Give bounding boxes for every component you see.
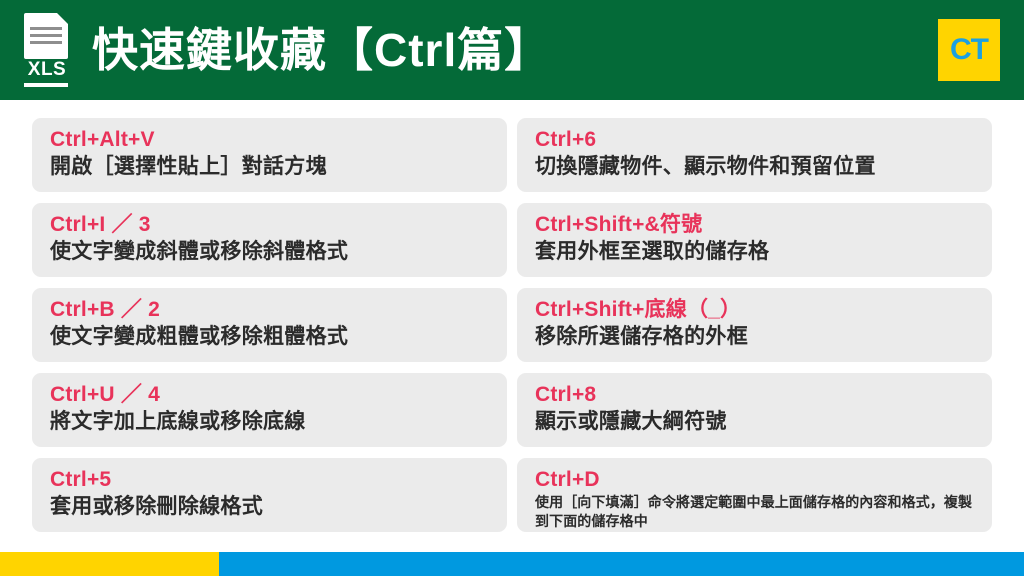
shortcut-grid: Ctrl+Alt+V開啟［選擇性貼上］對話方塊Ctrl+I ／ 3使文字變成斜體… bbox=[0, 100, 1024, 552]
xls-icon-underline bbox=[24, 83, 68, 87]
shortcut-description: 套用或移除刪除線格式 bbox=[50, 493, 491, 520]
page-fold-corner bbox=[57, 13, 68, 24]
shortcut-card: Ctrl+Shift+底線（_）移除所選儲存格的外框 bbox=[517, 288, 992, 362]
shortcut-card: Ctrl+D使用［向下填滿］命令將選定範圍中最上面儲存格的內容和格式，複製到下面… bbox=[517, 458, 992, 532]
shortcut-description: 開啟［選擇性貼上］對話方塊 bbox=[50, 153, 491, 180]
shortcut-key-label: Ctrl+5 bbox=[50, 467, 491, 493]
shortcut-description: 使文字變成斜體或移除斜體格式 bbox=[50, 238, 491, 265]
shortcut-key-label: Ctrl+Alt+V bbox=[50, 127, 491, 153]
shortcut-key-label: Ctrl+B ／ 2 bbox=[50, 297, 491, 323]
shortcut-key-label: Ctrl+I ／ 3 bbox=[50, 212, 491, 238]
shortcut-card: Ctrl+6切換隱藏物件、顯示物件和預留位置 bbox=[517, 118, 992, 192]
shortcut-description: 移除所選儲存格的外框 bbox=[535, 323, 976, 350]
shortcut-column-left: Ctrl+Alt+V開啟［選擇性貼上］對話方塊Ctrl+I ／ 3使文字變成斜體… bbox=[32, 118, 507, 552]
footer-bar bbox=[0, 552, 1024, 576]
shortcut-card: Ctrl+U ／ 4將文字加上底線或移除底線 bbox=[32, 373, 507, 447]
xls-file-icon: XLS bbox=[16, 11, 78, 89]
shortcut-key-label: Ctrl+8 bbox=[535, 382, 976, 408]
page-header: XLS 快速鍵收藏【Ctrl篇】 CT bbox=[0, 0, 1024, 100]
xls-icon-label: XLS bbox=[16, 59, 78, 80]
shortcut-column-right: Ctrl+6切換隱藏物件、顯示物件和預留位置Ctrl+Shift+&符號套用外框… bbox=[517, 118, 992, 552]
shortcut-key-label: Ctrl+Shift+底線（_） bbox=[535, 297, 976, 323]
shortcut-key-label: Ctrl+Shift+&符號 bbox=[535, 212, 976, 238]
shortcut-description: 切換隱藏物件、顯示物件和預留位置 bbox=[535, 153, 976, 180]
shortcut-key-label: Ctrl+D bbox=[535, 467, 976, 493]
shortcut-description: 顯示或隱藏大綱符號 bbox=[535, 408, 976, 435]
shortcut-card: Ctrl+5套用或移除刪除線格式 bbox=[32, 458, 507, 532]
shortcut-card: Ctrl+I ／ 3使文字變成斜體或移除斜體格式 bbox=[32, 203, 507, 277]
brand-logo-text: CT bbox=[950, 35, 988, 65]
shortcut-card: Ctrl+Shift+&符號套用外框至選取的儲存格 bbox=[517, 203, 992, 277]
page-title: 快速鍵收藏【Ctrl篇】 bbox=[92, 25, 938, 75]
shortcut-description: 將文字加上底線或移除底線 bbox=[50, 408, 491, 435]
brand-logo: CT bbox=[938, 19, 1000, 81]
shortcut-card: Ctrl+Alt+V開啟［選擇性貼上］對話方塊 bbox=[32, 118, 507, 192]
footer-blue-segment bbox=[219, 552, 1024, 576]
shortcut-card: Ctrl+B ／ 2使文字變成粗體或移除粗體格式 bbox=[32, 288, 507, 362]
shortcut-card: Ctrl+8顯示或隱藏大綱符號 bbox=[517, 373, 992, 447]
shortcut-key-label: Ctrl+6 bbox=[535, 127, 976, 153]
footer-yellow-segment bbox=[0, 552, 219, 576]
document-lines bbox=[30, 27, 62, 48]
shortcut-description: 套用外框至選取的儲存格 bbox=[535, 238, 976, 265]
shortcut-description: 使用［向下填滿］命令將選定範圍中最上面儲存格的內容和格式，複製到下面的儲存格中 bbox=[535, 493, 976, 531]
shortcut-description: 使文字變成粗體或移除粗體格式 bbox=[50, 323, 491, 350]
shortcut-key-label: Ctrl+U ／ 4 bbox=[50, 382, 491, 408]
